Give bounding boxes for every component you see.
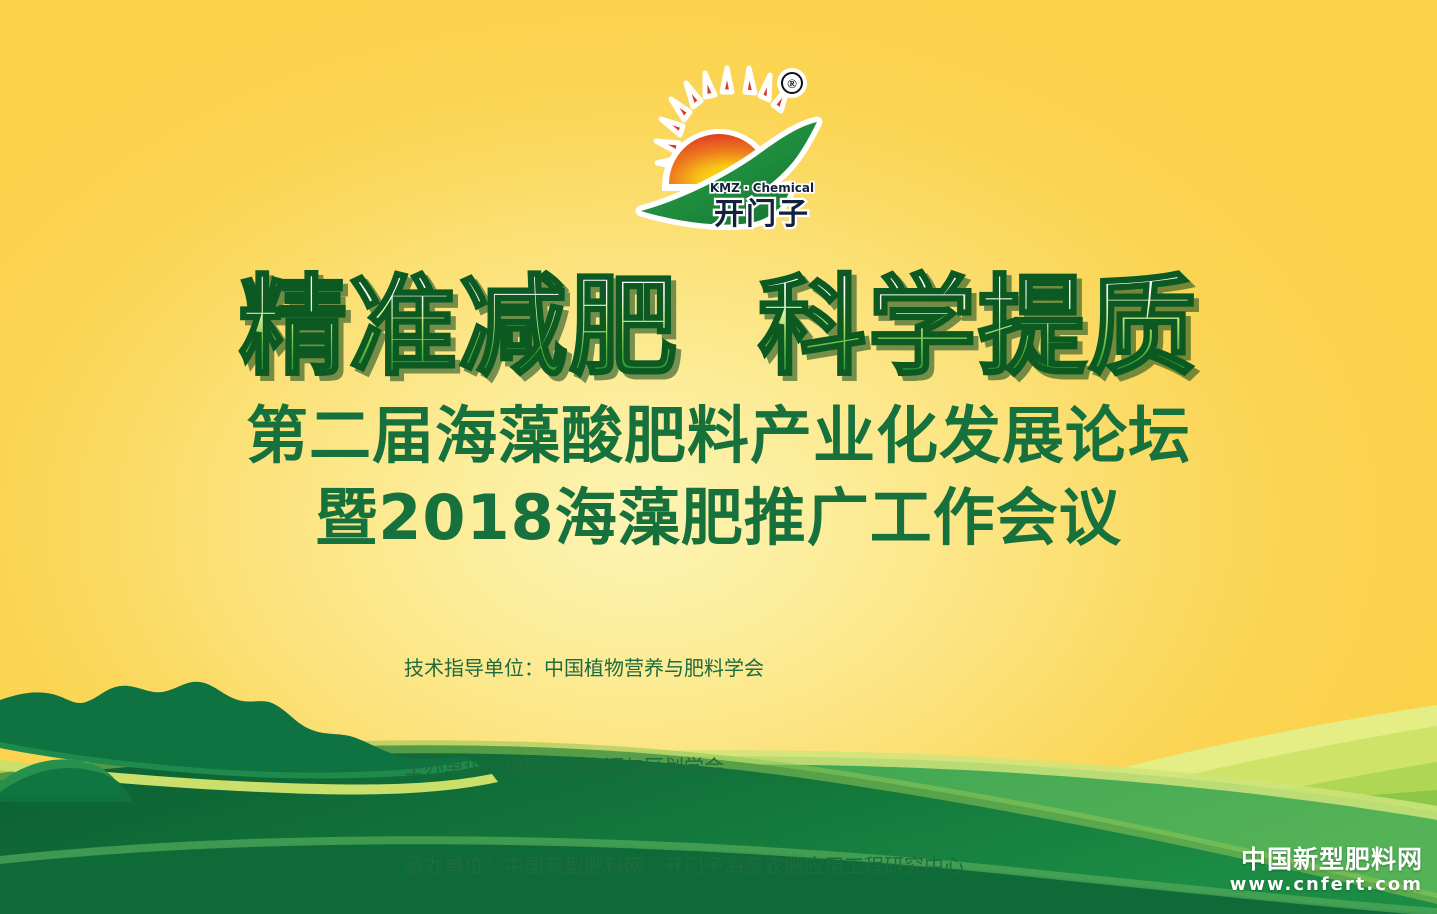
poster-subtitle-line1: 第二届海藻酸肥料产业化发展论坛 xyxy=(0,402,1437,470)
poster-subtitle-line2: 暨2018海藻肥推广工作会议 xyxy=(0,484,1437,552)
conference-poster: ® KMZ · Chemical 开门子 精准减肥 科学提质 第二届海藻酸肥料产… xyxy=(0,0,1437,914)
watermark-site-name: 中国新型肥料网 xyxy=(1230,846,1423,874)
detail-line-host: 主办单位：中国农业资源与区划学会 xyxy=(404,751,1404,784)
poster-headline: 精准减肥 科学提质 xyxy=(0,272,1437,384)
company-logo: ® KMZ · Chemical 开门子 xyxy=(631,62,831,247)
logo-chinese-name: 开门子 xyxy=(714,197,810,232)
logo-latin-name: KMZ · Chemical xyxy=(710,181,814,195)
detail-line-technical-guidance: 技术指导单位：中国植物营养与肥料学会 xyxy=(404,652,1404,685)
site-watermark: 中国新型肥料网 www.cnfert.com xyxy=(1230,846,1423,896)
registered-mark-glyph: ® xyxy=(787,76,797,91)
watermark-site-url: www.cnfert.com xyxy=(1230,874,1423,896)
registered-trademark-icon: ® xyxy=(777,68,807,98)
